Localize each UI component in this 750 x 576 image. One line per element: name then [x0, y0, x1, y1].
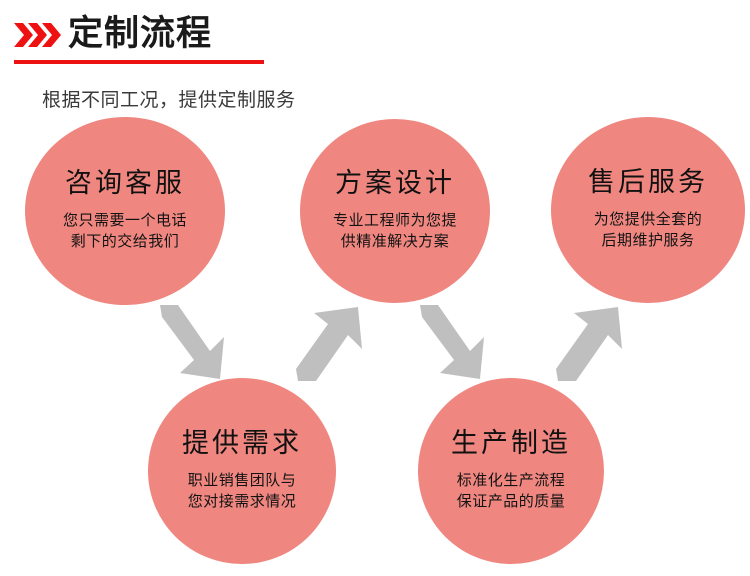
- flow-node-manufacture[interactable]: 生产制造 标准化生产流程 保证产品的质量: [418, 378, 604, 564]
- flow-node-description-line: 为您提供全套的: [594, 209, 703, 231]
- arrow-up-right-icon: [288, 303, 366, 383]
- flow-node-after-sales[interactable]: 售后服务 为您提供全套的 后期维护服务: [551, 117, 745, 303]
- flow-node-description-line: 后期维护服务: [594, 230, 703, 252]
- flow-node-description-line: 您对接需求情况: [188, 491, 297, 513]
- flow-node-description: 为您提供全套的 后期维护服务: [594, 209, 703, 253]
- process-flow-diagram: 咨询客服 您只需要一个电话 剩下的交给我们 方案设计 专业工程师为您提 供精准解…: [0, 0, 750, 576]
- flow-node-description-line: 保证产品的质量: [457, 491, 566, 513]
- arrow-down-right-icon: [412, 303, 490, 383]
- flow-node-design[interactable]: 方案设计 专业工程师为您提 供精准解决方案: [300, 119, 490, 303]
- flow-node-title: 方案设计: [335, 169, 455, 199]
- flow-node-description: 职业销售团队与 您对接需求情况: [188, 470, 297, 514]
- flow-node-requirements[interactable]: 提供需求 职业销售团队与 您对接需求情况: [148, 378, 336, 564]
- flow-node-description-line: 供精准解决方案: [333, 231, 457, 253]
- flow-node-description-line: 剩下的交给我们: [63, 231, 187, 253]
- flow-node-title: 咨询客服: [65, 169, 185, 199]
- arrow-up-right-icon: [548, 303, 626, 383]
- flow-node-description: 您只需要一个电话 剩下的交给我们: [63, 210, 187, 254]
- arrow-down-right-icon: [152, 303, 230, 383]
- slide-canvas: 定制流程 根据不同工况，提供定制服务 咨询客服 您只需要一个电话 剩下的交给我们…: [0, 0, 750, 576]
- flow-node-description-line: 您只需要一个电话: [63, 210, 187, 232]
- flow-node-description-line: 标准化生产流程: [457, 470, 566, 492]
- flow-node-description: 标准化生产流程 保证产品的质量: [457, 470, 566, 514]
- flow-node-title: 提供需求: [182, 429, 302, 459]
- flow-node-description-line: 职业销售团队与: [188, 470, 297, 492]
- flow-node-title: 售后服务: [588, 168, 708, 198]
- flow-node-description: 专业工程师为您提 供精准解决方案: [333, 210, 457, 254]
- flow-node-title: 生产制造: [451, 429, 571, 459]
- flow-node-consult[interactable]: 咨询客服 您只需要一个电话 剩下的交给我们: [25, 117, 225, 305]
- flow-node-description-line: 专业工程师为您提: [333, 210, 457, 232]
